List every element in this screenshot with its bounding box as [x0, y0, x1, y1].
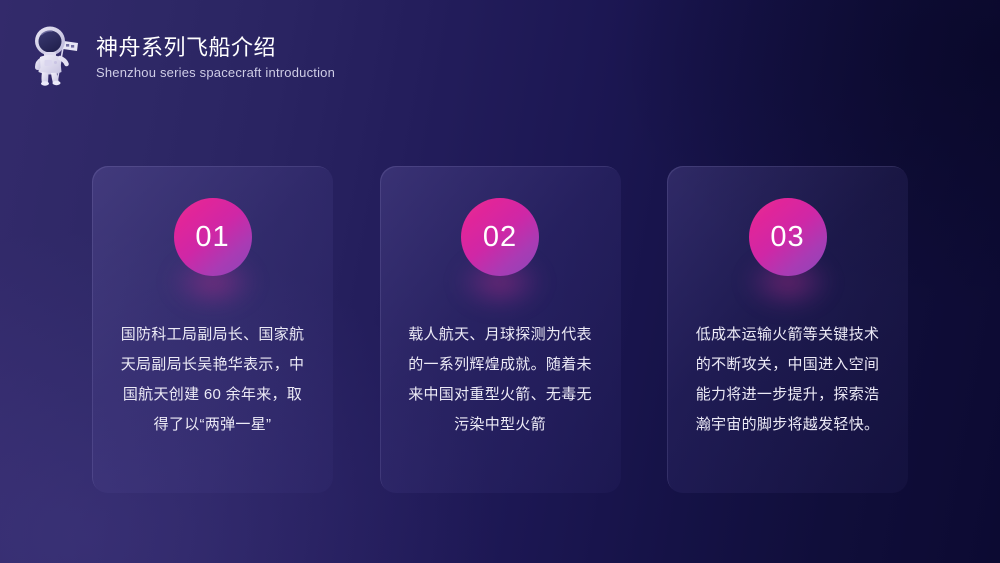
number-badge-01: 01	[174, 198, 252, 276]
page-subtitle: Shenzhou series spacecraft introduction	[96, 64, 335, 82]
info-card-02[interactable]: 02 载人航天、月球探测为代表的一系列辉煌成就。随着未来中国对重型火箭、无毒无污…	[380, 166, 621, 493]
badge-wrap-01: 01	[174, 198, 252, 276]
astronaut-icon	[28, 24, 86, 86]
slide-header: 神舟系列飞船介绍 Shenzhou series spacecraft intr…	[28, 24, 335, 86]
card-body-text-01: 国防科工局副局长、国家航天局副局长吴艳华表示，中国航天创建 60 余年来，取得了…	[119, 320, 307, 440]
number-badge-02: 02	[461, 198, 539, 276]
slide-canvas: 神舟系列飞船介绍 Shenzhou series spacecraft intr…	[0, 0, 1000, 563]
badge-number-label: 02	[483, 223, 517, 252]
info-card-03[interactable]: 03 低成本运输火箭等关键技术的不断攻关，中国进入空间能力将进一步提升，探索浩瀚…	[667, 166, 908, 493]
card-body-text-02: 载人航天、月球探测为代表的一系列辉煌成就。随着未来中国对重型火箭、无毒无污染中型…	[406, 320, 594, 440]
page-title: 神舟系列飞船介绍	[96, 33, 335, 63]
badge-number-label: 03	[770, 223, 804, 252]
info-card-01[interactable]: 01 国防科工局副局长、国家航天局副局长吴艳华表示，中国航天创建 60 余年来，…	[92, 166, 333, 493]
badge-wrap-02: 02	[461, 198, 539, 276]
badge-wrap-03: 03	[749, 198, 827, 276]
badge-number-label: 01	[195, 223, 229, 252]
header-text-group: 神舟系列飞船介绍 Shenzhou series spacecraft intr…	[96, 29, 335, 82]
cards-container: 01 国防科工局副局长、国家航天局副局长吴艳华表示，中国航天创建 60 余年来，…	[92, 166, 908, 493]
card-body-text-03: 低成本运输火箭等关键技术的不断攻关，中国进入空间能力将进一步提升，探索浩瀚宇宙的…	[694, 320, 882, 440]
number-badge-03: 03	[749, 198, 827, 276]
